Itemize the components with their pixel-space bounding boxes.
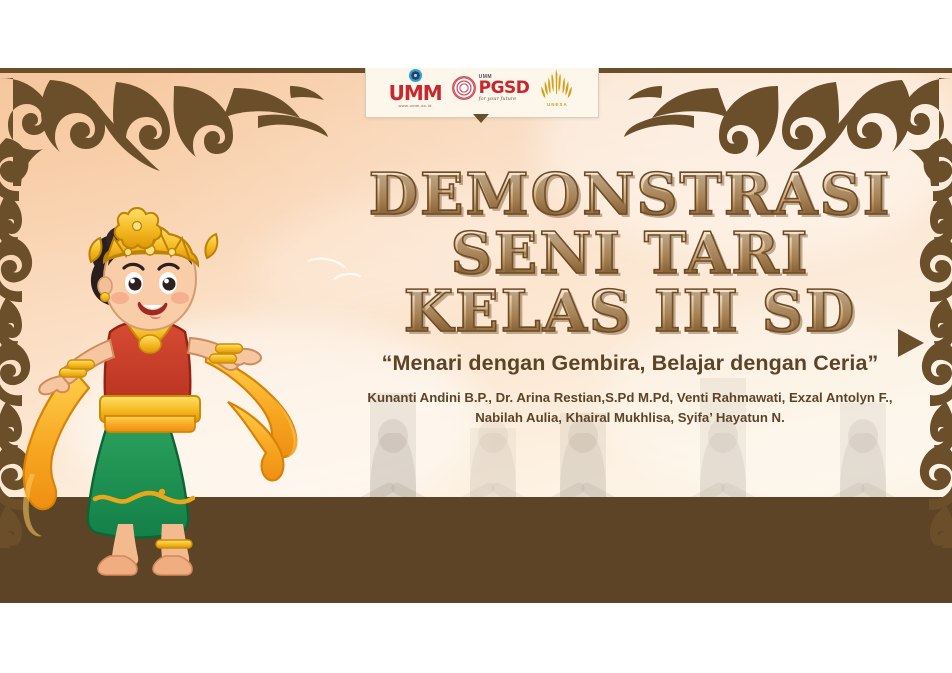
tagline: “Menari dengan Gembira, Belajar dengan C… [330, 351, 930, 376]
pgsd-wordmark: PGSD [479, 80, 530, 97]
batik-ornament-top-left [0, 68, 328, 186]
logo-banner: UMM www.umm.ac.id UMM PGSD for your futu… [365, 68, 599, 118]
unesa-wing-emblem-icon [539, 68, 575, 102]
umm-logo: UMM www.umm.ac.id [389, 69, 442, 108]
javanese-dancer-illustration [10, 188, 340, 603]
headline-block: DEMONSTRASI SENI TARI KELAS III SD [330, 168, 930, 340]
authors-line-2: Nabilah Aulia, Khairal Mukhlisa, Syifa’ … [325, 408, 935, 428]
unesa-wordmark: UNESA [547, 103, 568, 108]
unesa-logo: UNESA [539, 68, 575, 108]
headline-line-3: KELAS III SD [330, 285, 930, 340]
umm-wordmark: UMM [389, 83, 442, 103]
headline-line-1: DEMONSTRASI [330, 168, 930, 223]
poster-body: UMM www.umm.ac.id UMM PGSD for your futu… [0, 68, 952, 603]
sash-right [206, 354, 297, 480]
pgsd-tagline: for your future [479, 97, 530, 102]
umm-url: www.umm.ac.id [398, 104, 431, 108]
pgsd-seal-icon [452, 76, 476, 100]
poster-canvas: UMM www.umm.ac.id UMM PGSD for your futu… [0, 0, 952, 673]
authors-list: Kunanti Andini B.P., Dr. Arina Restian,S… [325, 388, 935, 428]
sash-left [23, 368, 89, 536]
umm-emblem-icon [409, 69, 422, 82]
umm-pgsd-logo: UMM PGSD for your future [452, 75, 530, 102]
authors-line-1: Kunanti Andini B.P., Dr. Arina Restian,S… [325, 388, 935, 408]
top-garment [100, 320, 200, 432]
skirt [88, 426, 193, 538]
headline-line-2: SENI TARI [330, 227, 930, 282]
banner-tab-icon [473, 114, 489, 123]
